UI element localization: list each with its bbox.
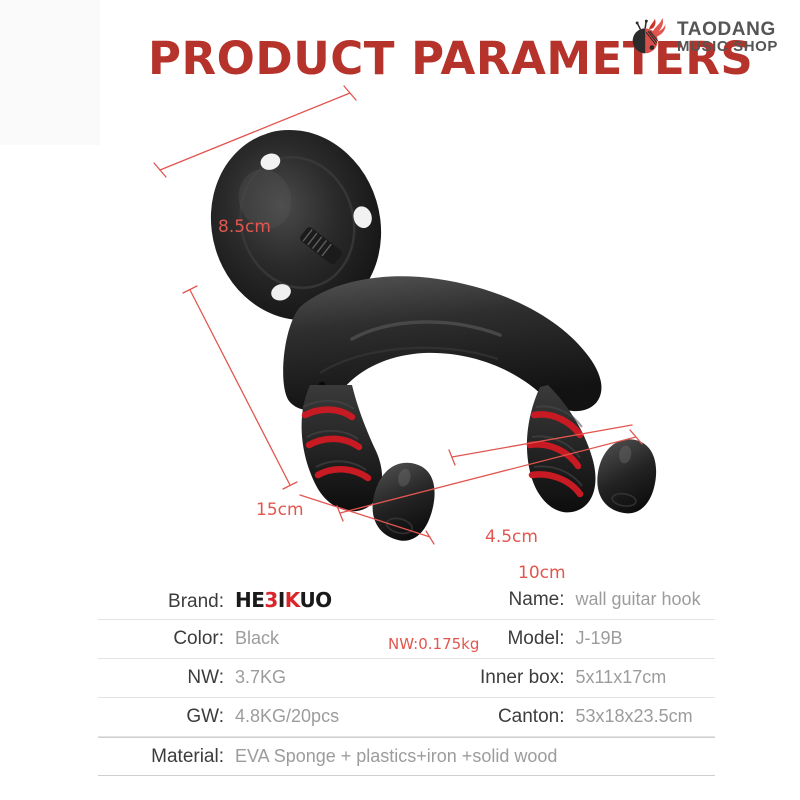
product-image: 8.5cm 15cm 4.5cm 10cm NW:0.175kg <box>0 85 800 575</box>
spec-label-inner-box: Inner box: <box>407 667 565 689</box>
spec-label-canton: Canton: <box>407 706 565 728</box>
brand-logo: TAODANG MUSIC SHOP <box>626 14 778 60</box>
spec-cell-material: Material: EVA Sponge + plastics+iron +so… <box>98 746 715 768</box>
spec-value-name: wall guitar hook <box>576 589 701 610</box>
spec-cell-inner-box: Inner box: 5x11x17cm <box>407 667 716 689</box>
spec-cell-color: Color: Black <box>98 628 407 650</box>
spec-label-nw: NW: <box>98 667 224 689</box>
spec-cell-brand: Brand: HE3IKUO <box>98 588 407 613</box>
spec-value-color: Black <box>235 628 279 649</box>
spec-value-inner-box: 5x11x17cm <box>576 667 667 688</box>
table-row: Color: Black Model: J-19B <box>98 620 715 659</box>
spec-label-name: Name: <box>407 589 565 611</box>
hebikuo-wordmark: HE3IKUO <box>235 588 332 612</box>
spec-cell-nw: NW: 3.7KG <box>98 667 407 689</box>
brand-name-line1: TAODANG <box>677 20 778 39</box>
spec-value-nw: 3.7KG <box>235 667 286 688</box>
table-row: Material: EVA Sponge + plastics+iron +so… <box>98 737 715 776</box>
spec-value-material: EVA Sponge + plastics+iron +solid wood <box>235 746 557 767</box>
ladybug-guitar-flame-icon <box>626 14 672 60</box>
spec-cell-model: Model: J-19B <box>407 628 716 650</box>
table-row: Brand: HE3IKUO Name: wall guitar hook <box>98 581 715 620</box>
spec-value-gw: 4.8KG/20pcs <box>235 706 339 727</box>
spec-value-canton: 53x18x23.5cm <box>576 706 693 727</box>
spec-table: Brand: HE3IKUO Name: wall guitar hook Co… <box>98 581 715 776</box>
spec-label-model: Model: <box>407 628 565 650</box>
dimension-label-plate-diameter: 8.5cm <box>218 217 271 237</box>
spec-label-material: Material: <box>98 746 224 768</box>
spec-value-model: J-19B <box>576 628 623 649</box>
table-row: GW: 4.8KG/20pcs Canton: 53x18x23.5cm <box>98 698 715 737</box>
spec-cell-canton: Canton: 53x18x23.5cm <box>407 706 716 728</box>
spec-label-gw: GW: <box>98 706 224 728</box>
brand-name-line2: MUSIC SHOP <box>677 39 778 54</box>
spec-label-color: Color: <box>98 628 224 650</box>
spec-label-brand: Brand: <box>98 591 224 613</box>
table-row: NW: 3.7KG Inner box: 5x11x17cm <box>98 659 715 698</box>
guitar-hook-illustration <box>0 85 800 575</box>
dimension-label-arm-span: 10cm <box>518 563 566 583</box>
spec-cell-name: Name: wall guitar hook <box>407 589 716 611</box>
dimension-label-overall-depth: 15cm <box>256 500 304 520</box>
spec-cell-gw: GW: 4.8KG/20pcs <box>98 706 407 728</box>
dimension-label-hook-gap: 4.5cm <box>485 527 538 547</box>
